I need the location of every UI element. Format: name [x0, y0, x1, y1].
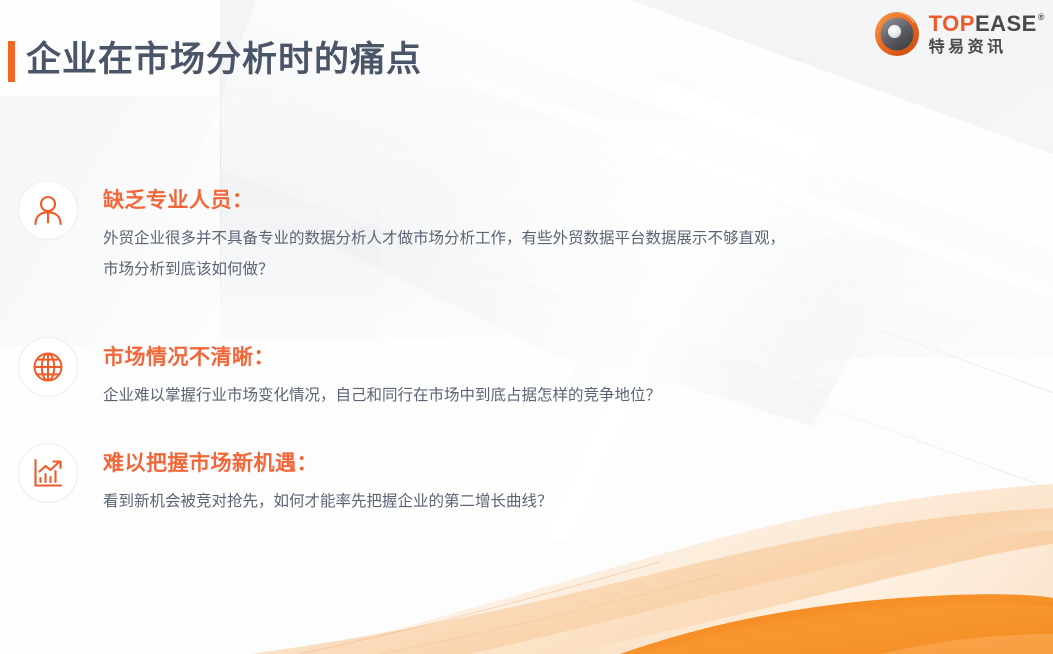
pain-point-item: 缺乏专业人员： 外贸企业很多并不具备专业的数据分析人才做市场分析工作，有些外贸数… — [0, 180, 1053, 285]
page-title: 企业在市场分析时的痛点 — [26, 36, 422, 84]
registered-mark-icon: ® — [1038, 13, 1045, 22]
pain-point-item: 难以把握市场新机遇： 看到新机会被竞对抢先，如何才能率先把握企业的第二增长曲线？ — [0, 443, 1053, 517]
pain-point-text-block: 难以把握市场新机遇： 看到新机会被竞对抢先，如何才能率先把握企业的第二增长曲线？ — [103, 443, 553, 517]
slide-header: 企业在市场分析时的痛点 — [0, 0, 1053, 96]
topease-circle-logo-icon — [874, 11, 920, 57]
pain-point-heading-text: 缺乏专业人员 — [103, 189, 232, 212]
logo-word-top: TOP — [929, 13, 975, 35]
logo-wordmark: TOP EASE ® — [929, 13, 1045, 35]
pain-point-heading: 缺乏专业人员： — [103, 184, 785, 214]
growth-chart-icon — [31, 456, 65, 490]
pain-point-icon-badge — [18, 180, 78, 240]
pain-point-line: 看到新机会被竞对抢先，如何才能率先把握企业的第二增长曲线？ — [103, 486, 553, 517]
pain-point-heading-text: 市场情况不清晰 — [103, 346, 254, 369]
pain-point-line: 企业难以掌握行业市场变化情况，自己和同行在市场中到底占据怎样的竞争地位？ — [103, 380, 661, 411]
pain-point-line: 外贸企业很多并不具备专业的数据分析人才做市场分析工作，有些外贸数据平台数据展示不… — [103, 223, 785, 254]
pain-point-heading-colon: ： — [232, 189, 254, 212]
slide-canvas: 企业在市场分析时的痛点 — [0, 0, 1053, 654]
logo-text-block: TOP EASE ® 特易资讯 — [929, 13, 1045, 56]
pain-point-text-block: 市场情况不清晰： 企业难以掌握行业市场变化情况，自己和同行在市场中到底占据怎样的… — [103, 337, 661, 411]
pain-point-heading-colon: ： — [297, 452, 319, 475]
pain-point-icon-badge — [18, 337, 78, 397]
person-icon — [31, 193, 65, 227]
brand-logo[interactable]: TOP EASE ® 特易资讯 — [874, 11, 1045, 57]
pain-point-heading-colon: ： — [254, 346, 276, 369]
pain-point-text-block: 缺乏专业人员： 外贸企业很多并不具备专业的数据分析人才做市场分析工作，有些外贸数… — [103, 180, 785, 285]
pain-point-heading: 难以把握市场新机遇： — [103, 447, 553, 477]
pain-point-list: 缺乏专业人员： 外贸企业很多并不具备专业的数据分析人才做市场分析工作，有些外贸数… — [0, 180, 1053, 517]
pain-point-heading: 市场情况不清晰： — [103, 341, 661, 371]
logo-word-ease: EASE — [975, 13, 1037, 35]
pain-point-line: 市场分析到底该如何做？ — [103, 254, 785, 285]
pain-point-heading-text: 难以把握市场新机遇 — [103, 452, 297, 475]
title-accent-bar — [8, 41, 15, 82]
logo-subtitle: 特易资讯 — [929, 40, 1045, 56]
pain-point-item: 市场情况不清晰： 企业难以掌握行业市场变化情况，自己和同行在市场中到底占据怎样的… — [0, 337, 1053, 411]
pain-point-icon-badge — [18, 443, 78, 503]
globe-icon — [31, 350, 65, 384]
